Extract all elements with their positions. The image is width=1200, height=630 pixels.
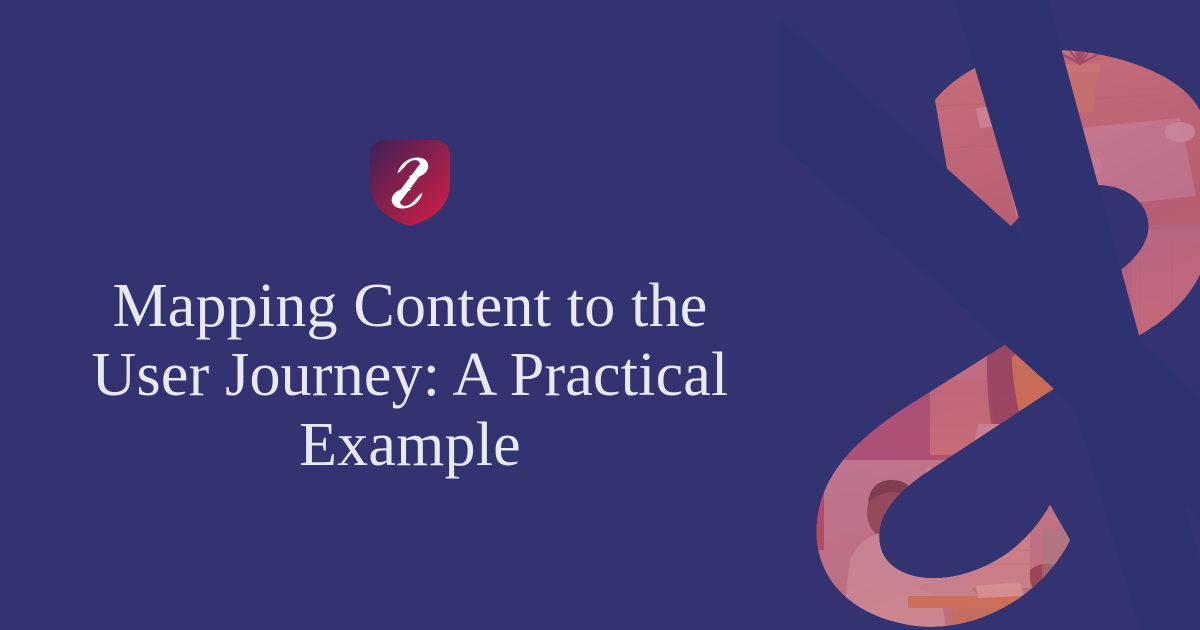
og-card: Mapping Content to the User Journey: A P… (0, 0, 1200, 630)
content-column: Mapping Content to the User Journey: A P… (0, 0, 820, 630)
s-monogram-photo-collage (780, 0, 1200, 630)
shield-logo[interactable] (370, 140, 450, 226)
page-title: Mapping Content to the User Journey: A P… (60, 272, 760, 480)
